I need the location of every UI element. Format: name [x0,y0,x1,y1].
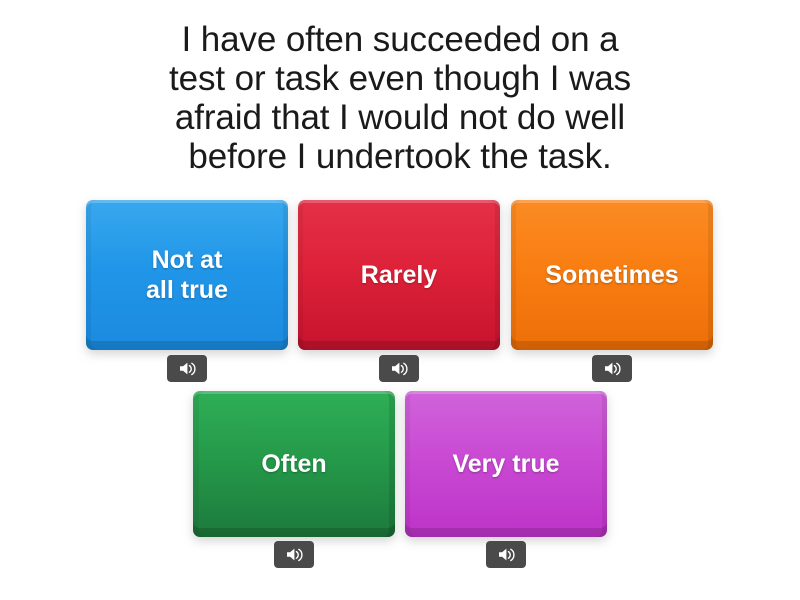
speaker-icon [286,547,303,562]
speaker-icon [498,547,515,562]
question-block: I have often succeeded on a test or task… [100,20,700,176]
speaker-icon [391,361,408,376]
speaker-icon [179,361,196,376]
answer-card-2-label: Rarely [353,260,445,290]
answer-card-3-surface: Sometimes [511,200,713,350]
answer-card-4-surface: Often [193,391,395,537]
answer-card-4-audio-button[interactable] [274,541,314,568]
answer-card-1[interactable]: Not at all true [86,200,288,350]
answer-card-4-label: Often [253,449,334,479]
answer-card-5-audio-button[interactable] [486,541,526,568]
answer-card-1-surface: Not at all true [86,200,288,350]
answer-card-3[interactable]: Sometimes [511,200,713,350]
answer-card-5-surface: Very true [405,391,607,537]
answer-card-3-label: Sometimes [537,260,686,290]
answer-card-2-audio-button[interactable] [379,355,419,382]
question-text: I have often succeeded on a test or task… [100,20,700,176]
speaker-icon [604,361,621,376]
quiz-stage: I have often succeeded on a test or task… [0,0,800,600]
answer-card-4[interactable]: Often [193,391,395,537]
answer-card-1-label: Not at all true [138,245,236,305]
answer-card-5-label: Very true [444,449,567,479]
answer-card-1-audio-button[interactable] [167,355,207,382]
answer-card-3-audio-button[interactable] [592,355,632,382]
answer-card-5[interactable]: Very true [405,391,607,537]
answer-card-2[interactable]: Rarely [298,200,500,350]
answer-card-2-surface: Rarely [298,200,500,350]
